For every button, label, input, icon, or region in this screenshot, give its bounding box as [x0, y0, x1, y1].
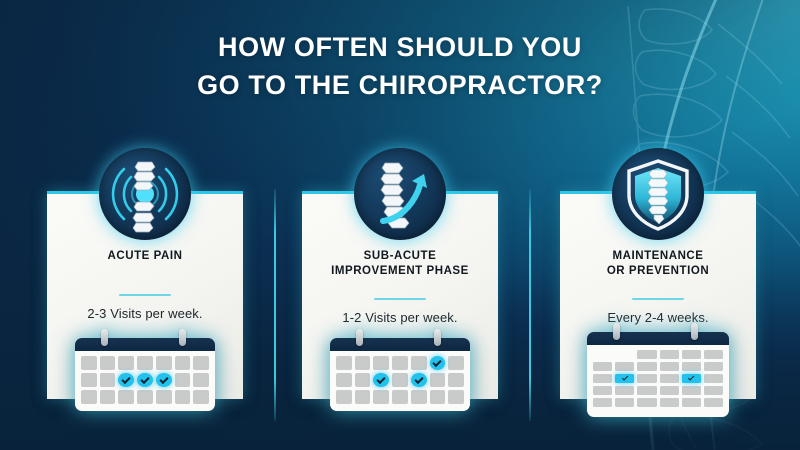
- calendar-day[interactable]: [430, 373, 446, 387]
- calendar-day[interactable]: [100, 373, 116, 387]
- calendar-day[interactable]: [411, 390, 427, 404]
- calendar-day-checked[interactable]: [373, 373, 389, 387]
- calendar-day-checked[interactable]: [137, 373, 153, 387]
- calendar-day-checked[interactable]: [118, 373, 134, 387]
- calendar-ring-right: [434, 329, 441, 346]
- card-sub-acute-improvement-phase[interactable]: SUB-ACUTE IMPROVEMENT PHASE 1-2 Visits p…: [302, 191, 498, 399]
- calendar-week-row: [81, 373, 209, 387]
- card-rule: [632, 298, 684, 300]
- calendar-day[interactable]: [637, 398, 656, 407]
- calendar-week-row: [81, 390, 209, 404]
- calendar-day[interactable]: [392, 390, 408, 404]
- calendar-day[interactable]: [704, 374, 723, 383]
- calendar-acute-pain[interactable]: [75, 338, 215, 411]
- calendar-day[interactable]: [615, 386, 634, 395]
- shield-spine-icon: [612, 148, 704, 240]
- calendar-week-row: [336, 356, 464, 370]
- calendar-week-row: [593, 374, 723, 383]
- calendar-week-row: [336, 390, 464, 404]
- card-title-line: SUB-ACUTE: [310, 249, 490, 264]
- calendar-ring-right: [179, 329, 186, 346]
- card-maintenance-or-prevention[interactable]: MAINTENANCE OR PREVENTION Every 2-4 week…: [560, 191, 756, 399]
- calendar-day[interactable]: [156, 390, 172, 404]
- calendar-header: [75, 338, 215, 351]
- calendar-day[interactable]: [704, 398, 723, 407]
- calendar-day: [615, 350, 634, 359]
- page-title: HOW OFTEN SHOULD YOU GO TO THE CHIROPRAC…: [0, 28, 800, 105]
- calendar-day[interactable]: [593, 386, 612, 395]
- calendar-day[interactable]: [660, 362, 679, 371]
- page-title-line-2: GO TO THE CHIROPRACTOR?: [0, 66, 800, 104]
- card-frequency: 2-3 Visits per week.: [53, 306, 237, 321]
- calendar-week-row: [593, 362, 723, 371]
- calendar-day[interactable]: [637, 350, 656, 359]
- calendar-day[interactable]: [411, 356, 427, 370]
- calendar-week-row: [81, 356, 209, 370]
- spine-pain-waves-icon: [99, 148, 191, 240]
- calendar-day[interactable]: [156, 356, 172, 370]
- calendar-day[interactable]: [355, 356, 371, 370]
- calendar-day[interactable]: [430, 390, 446, 404]
- calendar-sub-acute[interactable]: [330, 338, 470, 411]
- infographic-canvas: HOW OFTEN SHOULD YOU GO TO THE CHIROPRAC…: [0, 0, 800, 450]
- calendar-day[interactable]: [448, 373, 464, 387]
- calendar-day-checked[interactable]: [156, 373, 172, 387]
- card-rule: [374, 298, 426, 300]
- calendar-ring-left: [356, 329, 363, 346]
- calendar-day-checked[interactable]: [411, 373, 427, 387]
- calendar-day[interactable]: [118, 356, 134, 370]
- calendar-day[interactable]: [660, 374, 679, 383]
- calendar-day[interactable]: [100, 390, 116, 404]
- calendar-day[interactable]: [100, 356, 116, 370]
- card-frequency: 1-2 Visits per week.: [308, 310, 492, 325]
- calendar-day[interactable]: [175, 390, 191, 404]
- calendar-grid: [587, 345, 729, 417]
- calendar-day[interactable]: [682, 350, 701, 359]
- calendar-week-row: [593, 398, 723, 407]
- calendar-day[interactable]: [392, 356, 408, 370]
- card-title-line: MAINTENANCE: [568, 249, 748, 264]
- calendar-day[interactable]: [175, 373, 191, 387]
- calendar-day[interactable]: [637, 386, 656, 395]
- calendar-header: [587, 332, 729, 345]
- calendar-day[interactable]: [593, 362, 612, 371]
- calendar-grid: [75, 351, 215, 411]
- card-rule: [119, 294, 171, 296]
- card-title-line: ACUTE PAIN: [55, 249, 235, 264]
- calendar-day[interactable]: [615, 398, 634, 407]
- calendar-ring-left: [613, 323, 620, 340]
- calendar-day[interactable]: [137, 356, 153, 370]
- calendar-day: [593, 350, 612, 359]
- calendar-day[interactable]: [193, 356, 209, 370]
- calendar-grid: [330, 351, 470, 411]
- calendar-day[interactable]: [660, 386, 679, 395]
- calendar-day[interactable]: [193, 373, 209, 387]
- divider-1: [274, 189, 276, 421]
- calendar-day[interactable]: [615, 362, 634, 371]
- calendar-week-row: [336, 373, 464, 387]
- calendar-day[interactable]: [373, 390, 389, 404]
- calendar-day[interactable]: [193, 390, 209, 404]
- card-title-line: IMPROVEMENT PHASE: [310, 264, 490, 279]
- calendar-day[interactable]: [637, 374, 656, 383]
- calendar-day-checked[interactable]: [682, 374, 701, 383]
- calendar-day[interactable]: [355, 373, 371, 387]
- card-title: SUB-ACUTE IMPROVEMENT PHASE: [310, 249, 490, 278]
- calendar-day-checked[interactable]: [615, 374, 634, 383]
- divider-2: [529, 189, 531, 421]
- calendar-day[interactable]: [682, 398, 701, 407]
- calendar-ring-right: [691, 323, 698, 340]
- calendar-day[interactable]: [81, 356, 97, 370]
- calendar-day[interactable]: [392, 373, 408, 387]
- calendar-day[interactable]: [118, 390, 134, 404]
- calendar-day[interactable]: [81, 390, 97, 404]
- spine-upward-arrow-icon: [354, 148, 446, 240]
- calendar-day[interactable]: [593, 374, 612, 383]
- card-frequency: Every 2-4 weeks.: [566, 310, 750, 325]
- card-title-line: OR PREVENTION: [568, 264, 748, 279]
- calendar-day[interactable]: [704, 386, 723, 395]
- calendar-day[interactable]: [81, 373, 97, 387]
- calendar-day[interactable]: [175, 356, 191, 370]
- calendar-day[interactable]: [336, 356, 352, 370]
- calendar-day-checked[interactable]: [430, 356, 446, 370]
- card-title: ACUTE PAIN: [55, 249, 235, 264]
- calendar-day[interactable]: [682, 386, 701, 395]
- calendar-maintenance[interactable]: [587, 332, 729, 417]
- card-acute-pain[interactable]: ACUTE PAIN 2-3 Visits per week.: [47, 191, 243, 399]
- card-title: MAINTENANCE OR PREVENTION: [568, 249, 748, 278]
- calendar-week-row: [593, 350, 723, 359]
- page-title-line-1: HOW OFTEN SHOULD YOU: [0, 28, 800, 66]
- calendar-day[interactable]: [660, 398, 679, 407]
- calendar-day[interactable]: [448, 356, 464, 370]
- calendar-day[interactable]: [593, 398, 612, 407]
- calendar-day[interactable]: [704, 362, 723, 371]
- calendar-day[interactable]: [336, 390, 352, 404]
- calendar-header: [330, 338, 470, 351]
- calendar-day[interactable]: [704, 350, 723, 359]
- calendar-day[interactable]: [448, 390, 464, 404]
- calendar-ring-left: [101, 329, 108, 346]
- calendar-day[interactable]: [682, 362, 701, 371]
- calendar-day[interactable]: [336, 373, 352, 387]
- calendar-day[interactable]: [355, 390, 371, 404]
- calendar-day[interactable]: [137, 390, 153, 404]
- calendar-day[interactable]: [660, 350, 679, 359]
- calendar-week-row: [593, 386, 723, 395]
- calendar-day[interactable]: [373, 356, 389, 370]
- calendar-day[interactable]: [637, 362, 656, 371]
